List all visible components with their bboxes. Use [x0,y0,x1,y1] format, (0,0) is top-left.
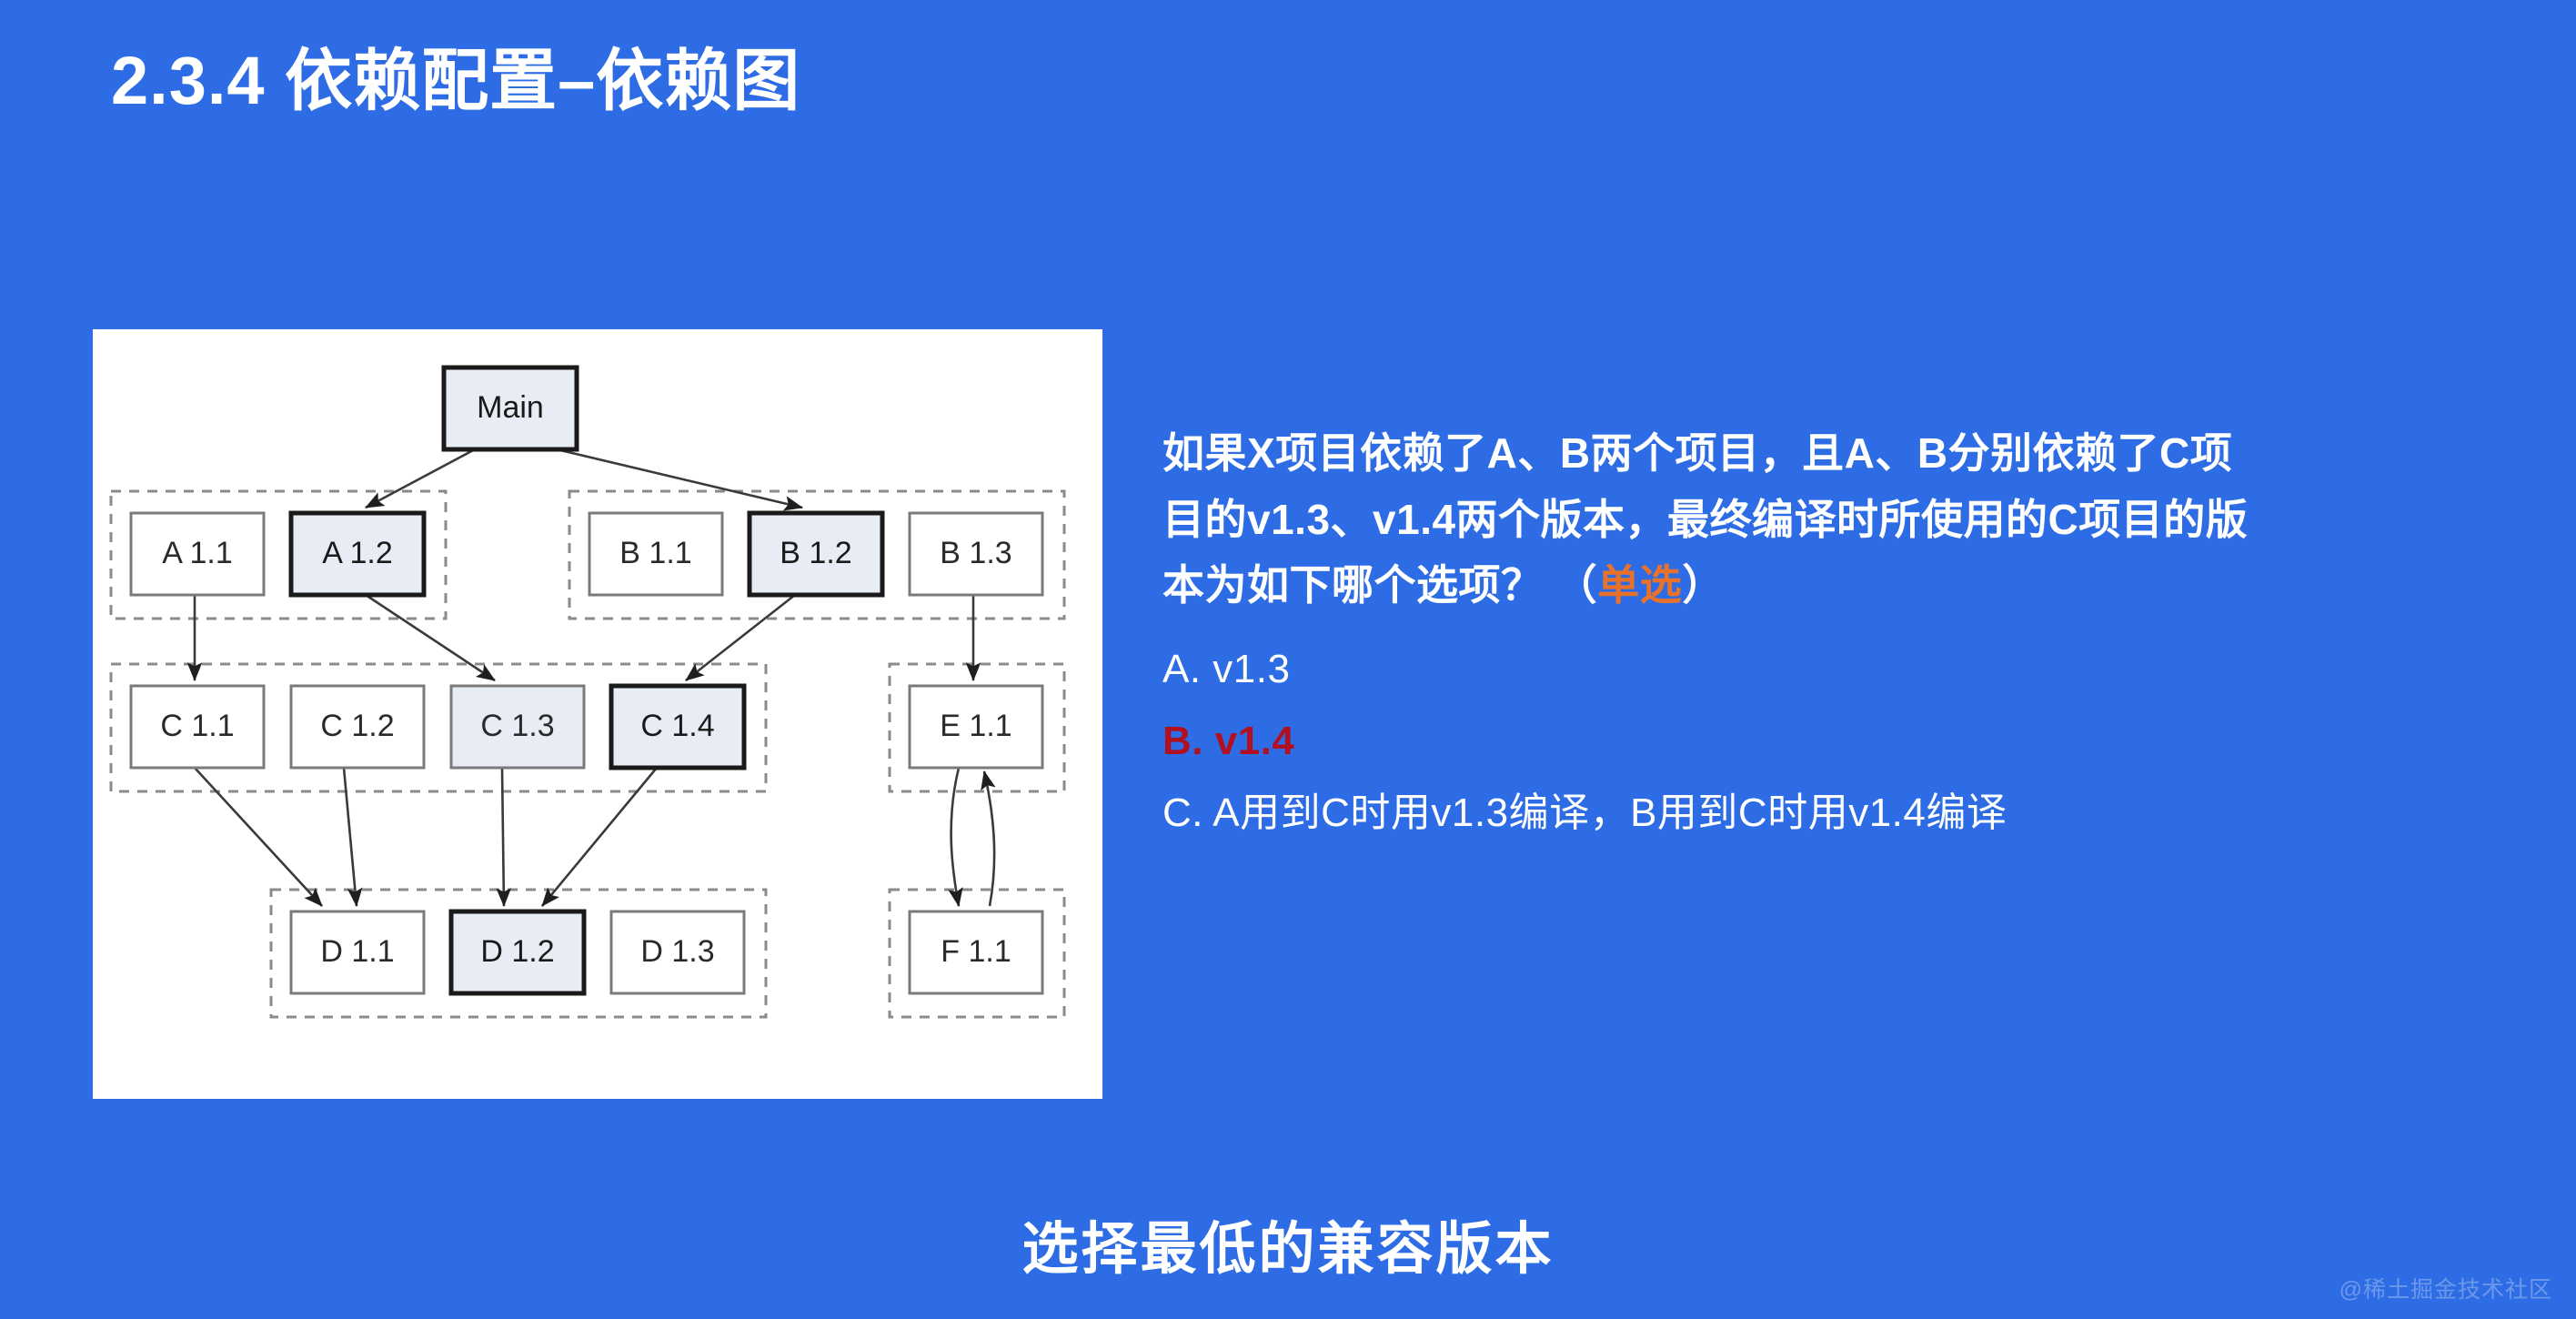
question-line-3-prefix: 本为如下哪个选项？ （ [1162,561,1597,609]
single-choice-badge: 单选 [1597,561,1682,609]
edge-main-b12 [557,449,802,508]
question-line-3: 本为如下哪个选项？ （单选） [1162,552,2500,619]
node-a12[interactable]: A 1.2 [291,513,424,595]
node-c13[interactable]: C 1.3 [451,686,584,768]
option-b[interactable]: B. v1.4 [1162,721,2500,761]
node-label: B 1.3 [940,536,1011,570]
node-label: C 1.2 [320,709,394,743]
node-c12[interactable]: C 1.2 [291,686,424,768]
node-d12[interactable]: D 1.2 [451,911,584,993]
answer-options: A. v1.3 B. v1.4 C. A用到C时用v1.3编译，B用到C时用v1… [1162,649,2500,833]
node-main[interactable]: Main [444,368,577,449]
node-d11[interactable]: D 1.1 [291,911,424,993]
option-c[interactable]: C. A用到C时用v1.3编译，B用到C时用v1.4编译 [1162,793,2500,833]
node-label: C 1.4 [640,709,714,743]
node-b11[interactable]: B 1.1 [589,513,722,595]
edge-e11-f11 [951,768,959,906]
node-b12[interactable]: B 1.2 [750,513,882,595]
option-a[interactable]: A. v1.3 [1162,649,2500,690]
graph-nodes: Main A 1.1 A 1.2 B 1.1 B 1.2 [131,368,1042,993]
slide-caption: 选择最低的兼容版本 [0,1203,2576,1284]
node-d13[interactable]: D 1.3 [611,911,744,993]
edge-b12-c14 [686,595,795,680]
node-c11[interactable]: C 1.1 [131,686,264,768]
edge-c14-d12 [542,768,657,906]
node-label: B 1.1 [619,536,691,570]
question-block: 如果X项目依赖了A、B两个项目，且A、B分别依赖了C项 目的v1.3、v1.4两… [1162,420,2500,865]
node-c14[interactable]: C 1.4 [611,686,744,768]
edge-c13-d12 [502,768,504,906]
question-line-3-suffix: ） [1682,561,1725,609]
question-line-2: 目的v1.3、v1.4两个版本，最终编译时所使用的C项目的版 [1162,487,2500,553]
question-line-1: 如果X项目依赖了A、B两个项目，且A、B分别依赖了C项 [1162,420,2500,487]
node-b13[interactable]: B 1.3 [910,513,1042,595]
node-label: Main [477,390,544,425]
node-a11[interactable]: A 1.1 [131,513,264,595]
dependency-graph-panel: Main A 1.1 A 1.2 B 1.1 B 1.2 [93,329,1102,1099]
edge-main-a12 [366,449,475,508]
node-label: A 1.2 [322,536,393,570]
node-f11[interactable]: F 1.1 [910,911,1042,993]
node-label: D 1.3 [640,934,714,969]
node-e11[interactable]: E 1.1 [910,686,1042,768]
node-label: D 1.2 [480,934,554,969]
node-label: C 1.3 [480,709,554,743]
node-label: D 1.1 [320,934,394,969]
node-label: C 1.1 [160,709,234,743]
edge-a12-c13 [366,595,495,680]
edge-c11-d12 [195,768,322,906]
edge-c12-d11 [344,768,357,906]
node-label: E 1.1 [940,709,1011,743]
node-label: B 1.2 [780,536,851,570]
node-label: A 1.1 [162,536,233,570]
page-title: 2.3.4 依赖配置–依赖图 [111,44,800,117]
dependency-graph-svg: Main A 1.1 A 1.2 B 1.1 B 1.2 [93,329,1102,1099]
watermark: @稀土掘金技术社区 [2340,1272,2552,1304]
node-label: F 1.1 [941,934,1011,969]
